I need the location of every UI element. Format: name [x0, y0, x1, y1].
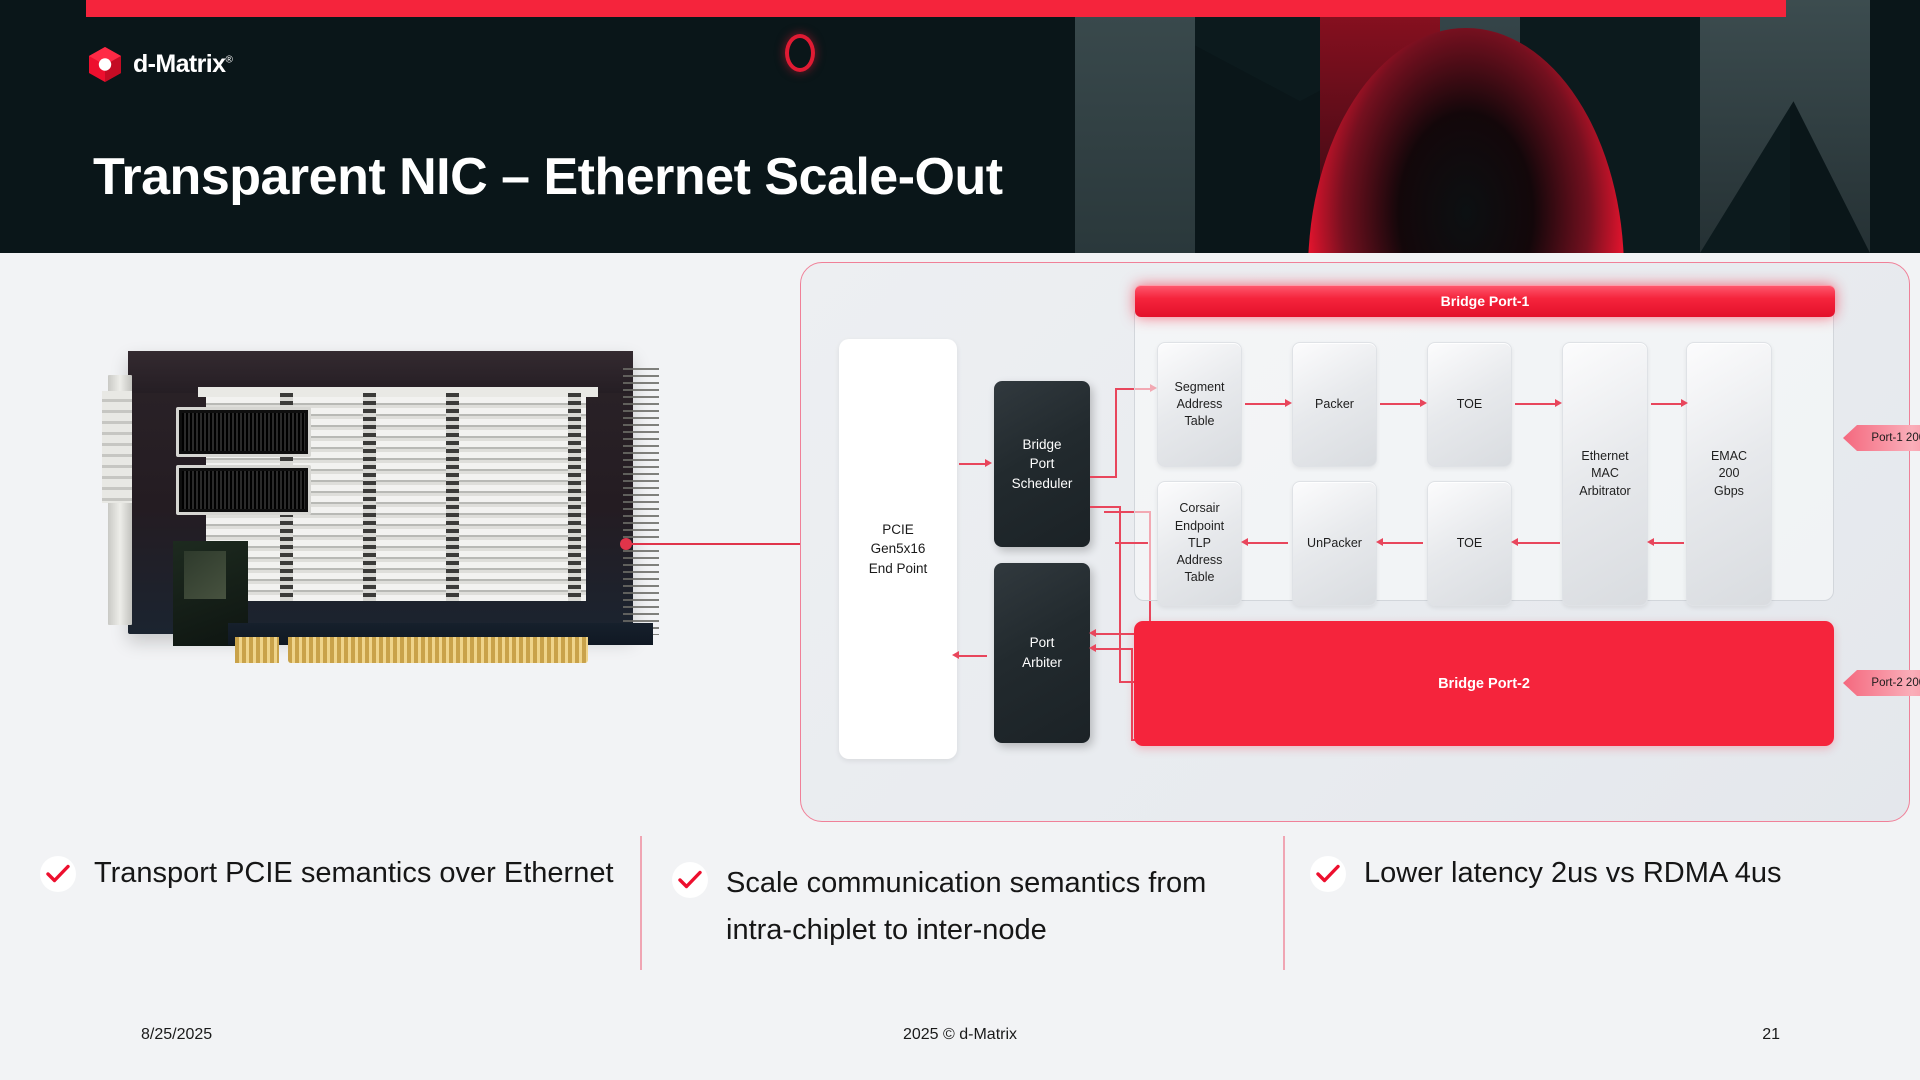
bullet-text-3: Lower latency 2us vs RDMA 4us: [1364, 854, 1781, 892]
dmatrix-logo: d-Matrix®: [88, 46, 232, 83]
callout-line: [626, 543, 808, 545]
arrowhead-return-2: [1089, 644, 1096, 652]
header-shape-1: [1075, 0, 1195, 253]
unpacker-block: UnPacker: [1292, 481, 1377, 606]
arrow-scheduler-out-bottom: [1090, 506, 1120, 508]
arrow-sat-to-packer: [1245, 403, 1285, 405]
footer-page-number: 21: [1762, 1026, 1780, 1044]
card-heatsink-top-bar: [198, 387, 598, 397]
block-diagram-panel: PCIE Gen5x16 End Point Bridge Port Sched…: [800, 262, 1910, 822]
arrowhead-mac-to-emac: [1681, 399, 1688, 407]
arrow-unpacker-to-corsair: [1248, 542, 1288, 544]
arrowhead-toe-to-mac: [1555, 399, 1562, 407]
hexagon-logo-icon: [88, 46, 122, 83]
packer-block: Packer: [1292, 342, 1377, 467]
slide-root: d-Matrix® Transparent NIC – Ethernet Sca…: [0, 0, 1920, 1080]
bridge-port-1-header: Bridge Port-1: [1135, 285, 1835, 317]
bullet-list: Transport PCIE semantics over Ethernet S…: [0, 840, 1920, 1025]
bullet-item-2: Scale communication semantics from intra…: [672, 860, 1262, 954]
bridge-port-2-block: Bridge Port-2: [1134, 621, 1834, 746]
slide-header: d-Matrix® Transparent NIC – Ethernet Sca…: [0, 0, 1920, 253]
qsfp-port-2: [176, 465, 311, 515]
arrowhead-arbiter-to-pcie: [952, 651, 959, 659]
arrow-return-lower-2: [1096, 648, 1132, 650]
segment-address-table-block: Segment Address Table: [1157, 342, 1242, 467]
pcie-gold-fingers: [288, 637, 588, 663]
heatsink-valley-4: [568, 393, 581, 601]
accelerator-card-photo: [100, 345, 640, 675]
page-title: Transparent NIC – Ethernet Scale-Out: [93, 147, 1003, 207]
arrow-into-corsair: [1115, 542, 1148, 544]
header-ring-icon: [785, 34, 815, 72]
bridge-port-1-group: Bridge Port-1 Segment Address Table Pack…: [1134, 305, 1834, 601]
port-1-bandwidth-tag: Port-1 200Gbps: [1843, 425, 1920, 451]
heatsink-valley-3: [446, 393, 459, 601]
arrow-pcie-to-scheduler: [959, 463, 985, 465]
arrow-arbiter-to-pcie: [959, 655, 987, 657]
bridge-port-scheduler-block: Bridge Port Scheduler: [994, 381, 1090, 547]
arrowhead-return-1: [1089, 629, 1096, 637]
corsair-endpoint-tlp-table-block: Corsair Endpoint TLP Address Table: [1157, 481, 1242, 606]
bullet-item-1: Transport PCIE semantics over Ethernet: [40, 854, 620, 892]
check-icon: [40, 856, 76, 892]
header-red-bar: [86, 0, 1786, 17]
arrow-return-vert-2: [1131, 648, 1133, 740]
arrow-scheduler-up: [1115, 388, 1117, 478]
arrowhead-sat-to-packer: [1285, 399, 1292, 407]
arrow-toe-to-unpacker: [1383, 542, 1423, 544]
card-pcb: [128, 351, 633, 634]
qsfp-port-1: [176, 407, 311, 457]
arrow-mac-to-emac: [1651, 403, 1681, 405]
pcie-endpoint-block: PCIE Gen5x16 End Point: [839, 339, 957, 759]
arrow-mac-to-toe-bottom: [1518, 542, 1560, 544]
logo-text: d-Matrix: [133, 50, 225, 78]
arrow-toe-to-mac: [1515, 403, 1555, 405]
arrowhead-packer-to-toe: [1420, 399, 1427, 407]
toe-bottom-block: TOE: [1427, 481, 1512, 606]
arrowhead-mac-to-toe-bottom: [1511, 538, 1518, 546]
check-icon: [1310, 856, 1346, 892]
logo-wordmark: d-Matrix®: [133, 50, 232, 79]
arrowhead-toe-to-unpacker: [1376, 538, 1383, 546]
emac-200gbps-block: EMAC 200 Gbps: [1686, 342, 1772, 606]
port-arbiter-block: Port Arbiter: [994, 563, 1090, 743]
arrow-packer-to-toe: [1380, 403, 1420, 405]
bullet-item-3: Lower latency 2us vs RDMA 4us: [1310, 854, 1870, 892]
card-bracket-vent: [102, 391, 132, 503]
arrowhead-emac-to-mac: [1647, 538, 1654, 546]
bullet-text-1: Transport PCIE semantics over Ethernet: [94, 854, 614, 892]
logo-trademark: ®: [225, 55, 232, 66]
toe-top-block: TOE: [1427, 342, 1512, 467]
port-2-bandwidth-tag: Port-2 200Gbps: [1843, 670, 1920, 696]
bullet-text-2: Scale communication semantics from intra…: [726, 860, 1262, 954]
heatsink-valley-2: [363, 393, 376, 601]
check-icon: [672, 862, 708, 898]
arrow-scheduler-out-top: [1090, 476, 1116, 478]
footer-copyright: 2025 © d-Matrix: [0, 1026, 1920, 1044]
card-chip-die: [184, 551, 226, 599]
pcie-gold-fingers-short: [235, 637, 279, 663]
card-right-pin-array: [623, 363, 659, 635]
ethernet-mac-arbitrator-block: Ethernet MAC Arbitrator: [1562, 342, 1648, 606]
arrow-emac-to-mac: [1654, 542, 1684, 544]
arrowhead-unpacker-to-corsair: [1241, 538, 1248, 546]
arrow-scheduler-down: [1119, 506, 1121, 682]
arrowhead-pcie-to-scheduler: [985, 459, 992, 467]
